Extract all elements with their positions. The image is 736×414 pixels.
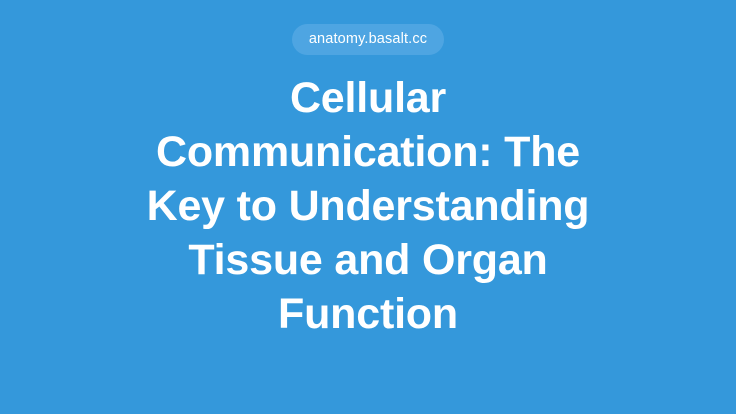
- page-title: Cellular Communication: The Key to Under…: [0, 71, 736, 341]
- hero-card: anatomy.basalt.cc Cellular Communication…: [0, 0, 736, 414]
- headline-line-2: Communication: The: [58, 125, 678, 179]
- site-domain-badge[interactable]: anatomy.basalt.cc: [292, 24, 444, 55]
- headline-line-4: Tissue and Organ: [58, 233, 678, 287]
- headline-line-5: Function: [58, 287, 678, 341]
- headline-line-3: Key to Understanding: [58, 179, 678, 233]
- headline-line-1: Cellular: [58, 71, 678, 125]
